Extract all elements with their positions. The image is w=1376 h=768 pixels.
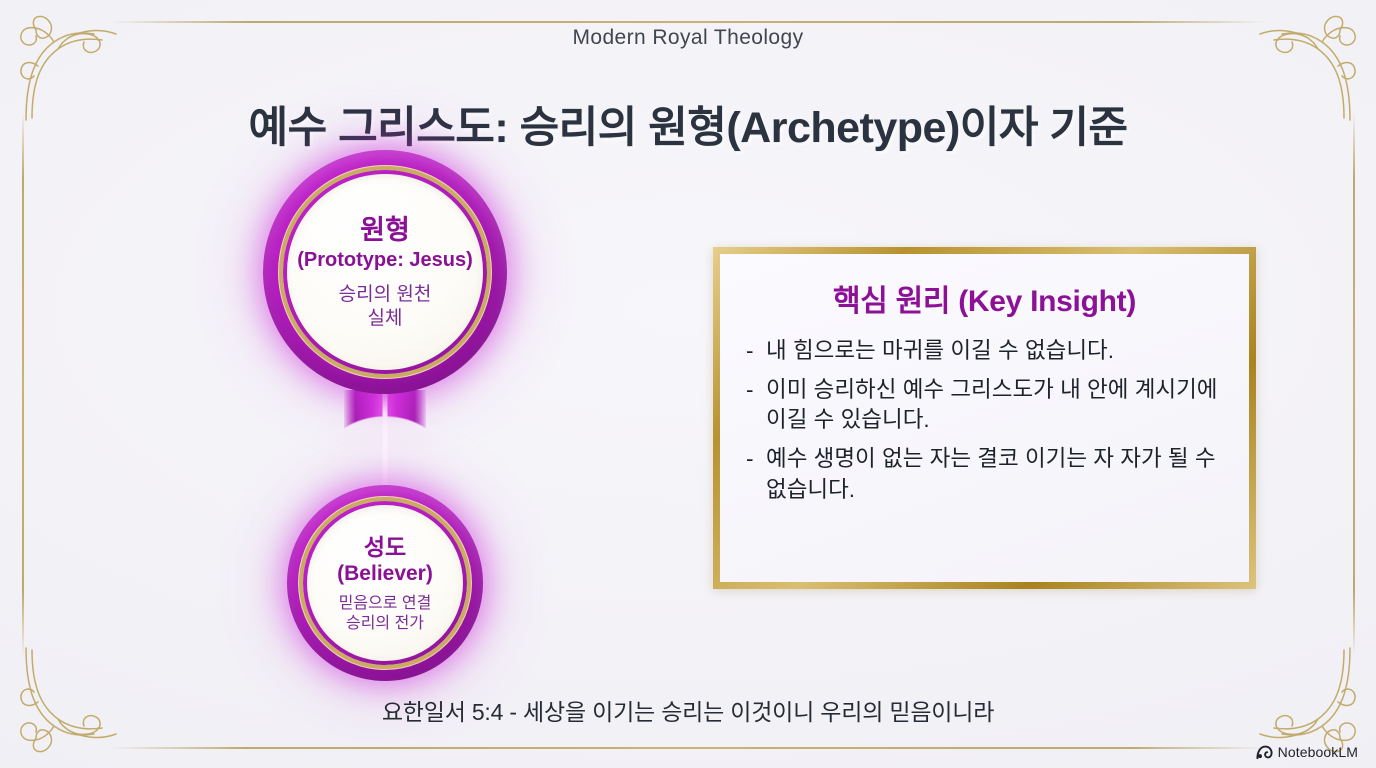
watermark-label: NotebookLM: [1278, 744, 1358, 760]
node-title-ko: 성도: [364, 533, 406, 561]
key-insight-title: 핵심 원리 (Key Insight): [746, 276, 1223, 320]
key-insight-list: - 내 힘으로는 마귀를 이길 수 없습니다. - 이미 승리하신 예수 그리스…: [746, 336, 1223, 514]
notebooklm-watermark: NotebookLM: [1256, 744, 1358, 760]
notebooklm-logo-icon: [1256, 745, 1273, 760]
key-insight-inner: 핵심 원리 (Key Insight) - 내 힘으로는 마귀를 이길 수 없습…: [720, 254, 1249, 582]
frame-line-left: [22, 112, 24, 657]
frame-line-bottom: [108, 747, 1268, 749]
page-title: 예수 그리스도: 승리의 원형(Archetype)이자 기준: [0, 93, 1376, 155]
node-inner-disc: 성도 (Believer) 믿음으로 연결 승리의 전가: [303, 501, 467, 665]
node-desc-line2: 승리의 전가: [346, 614, 424, 634]
scripture-reference: 요한일서 5:4 - 세상을 이기는 승리는 이것이니 우리의 믿음이니라: [0, 693, 1376, 727]
node-desc-line2: 실체: [368, 307, 403, 330]
slide-eyebrow: Modern Royal Theology: [0, 26, 1376, 50]
node-title-ko: 원형: [360, 214, 410, 247]
list-item-text: 이미 승리하신 예수 그리스도가 내 안에 계시기에 이길 수 있습니다.: [766, 377, 1218, 432]
key-insight-panel: 핵심 원리 (Key Insight) - 내 힘으로는 마귀를 이길 수 없습…: [713, 247, 1256, 589]
node-desc-line1: 승리의 원천: [339, 283, 432, 306]
slide-canvas: Modern Royal Theology 예수 그리스도: 승리의 원형(Ar…: [0, 0, 1376, 768]
node-title-en: (Believer): [337, 561, 433, 587]
concept-diagram: 원형 (Prototype: Jesus) 승리의 원천 실체 성도 (Beli…: [250, 140, 520, 680]
node-title-en: (Prototype: Jesus): [297, 248, 473, 272]
list-item-text: 예수 생명이 없는 자는 결코 이기는 자 자가 될 수 없습니다.: [766, 446, 1216, 501]
bullet-dash: -: [746, 375, 754, 405]
bullet-dash: -: [746, 336, 754, 366]
list-item: - 이미 승리하신 예수 그리스도가 내 안에 계시기에 이길 수 있습니다.: [746, 375, 1223, 435]
diagram-node-prototype[interactable]: 원형 (Prototype: Jesus) 승리의 원천 실체: [263, 150, 507, 394]
frame-line-top: [108, 21, 1268, 23]
diagram-node-believer[interactable]: 성도 (Believer) 믿음으로 연결 승리의 전가: [287, 485, 483, 681]
frame-line-right: [1353, 112, 1355, 657]
list-item: - 예수 생명이 없는 자는 결코 이기는 자 자가 될 수 없습니다.: [746, 444, 1223, 504]
bullet-dash: -: [746, 444, 754, 474]
node-desc-line1: 믿음으로 연결: [339, 594, 432, 614]
node-inner-disc: 원형 (Prototype: Jesus) 승리의 원천 실체: [283, 170, 487, 374]
list-item: - 내 힘으로는 마귀를 이길 수 없습니다.: [746, 336, 1223, 366]
list-item-text: 내 힘으로는 마귀를 이길 수 없습니다.: [766, 338, 1114, 363]
